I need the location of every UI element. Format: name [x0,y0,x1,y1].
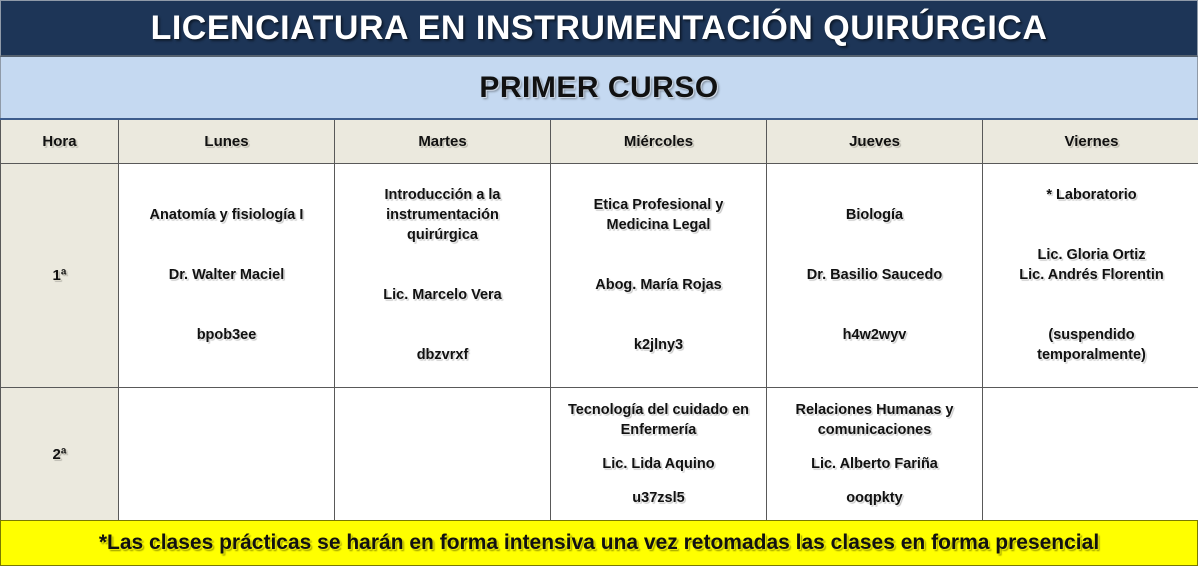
footnote-text: *Las clases prácticas se harán en forma … [99,531,1099,555]
code-block: h4w2wyv [774,325,975,345]
subject-name-line1: Tecnología del cuidado en [558,400,759,420]
class-code: bpob3ee [126,325,327,345]
subject-name-line2: comunicaciones [774,420,975,440]
subject-name-line3: quirúrgica [342,225,543,245]
teacher-block: Lic. Gloria Ortiz Lic. Andrés Florentin [990,245,1193,285]
footnote-bar: *Las clases prácticas se harán en forma … [0,520,1198,566]
schedule-page: LICENCIATURA EN INSTRUMENTACIÓN QUIRÚRGI… [0,0,1198,566]
course-subtitle: PRIMER CURSO [479,71,718,105]
teacher-name: Lic. Alberto Fariña [774,454,975,474]
teacher-name: Dr. Walter Maciel [126,265,327,285]
status-note-line1: (suspendido [990,325,1193,345]
column-header-martes: Martes [335,119,551,163]
subject-block: Anatomía y fisiología I [126,205,327,225]
class-code: u37zsl5 [558,488,759,508]
teacher-name-line2: Lic. Andrés Florentin [990,265,1193,285]
status-note-block: (suspendido temporalmente) [990,325,1193,365]
page-title: LICENCIATURA EN INSTRUMENTACIÓN QUIRÚRGI… [151,9,1048,48]
subject-name: Biología [774,205,975,225]
teacher-name: Lic. Lida Aquino [558,454,759,474]
teacher-block: Dr. Basilio Saucedo [774,265,975,285]
class-cell-viernes-row1[interactable]: * Laboratorio Lic. Gloria Ortiz Lic. And… [983,163,1198,387]
hora-label-row1: 1ª [1,163,119,387]
teacher-block: Abog. María Rojas [558,275,759,295]
class-code: ooqpkty [774,488,975,508]
subject-name-line2: Medicina Legal [558,215,759,235]
table-body: 1ª Anatomía y fisiología I Dr. Walter Ma… [1,163,1198,521]
class-code: k2jlny3 [558,335,759,355]
subject-name: Anatomía y fisiología I [126,205,327,225]
teacher-block: Lic. Marcelo Vera [342,285,543,305]
teacher-name: Lic. Marcelo Vera [342,285,543,305]
table-header: Hora Lunes Martes Miércoles Jueves Viern… [1,119,1198,163]
subject-block: Tecnología del cuidado en Enfermería [558,400,759,440]
column-header-viernes: Viernes [983,119,1198,163]
class-code: h4w2wyv [774,325,975,345]
program-title-band: LICENCIATURA EN INSTRUMENTACIÓN QUIRÚRGI… [0,0,1198,57]
class-cell-viernes-row2[interactable] [983,387,1198,521]
class-cell-lunes-row1[interactable]: Anatomía y fisiología I Dr. Walter Macie… [119,163,335,387]
teacher-block: Dr. Walter Maciel [126,265,327,285]
class-cell-lunes-row2[interactable] [119,387,335,521]
subject-block: Etica Profesional y Medicina Legal [558,195,759,235]
class-cell-jueves-row2[interactable]: Relaciones Humanas y comunicaciones Lic.… [767,387,983,521]
subject-block: Biología [774,205,975,225]
teacher-name: Dr. Basilio Saucedo [774,265,975,285]
subject-block: Relaciones Humanas y comunicaciones [774,400,975,440]
code-block: k2jlny3 [558,335,759,355]
column-header-jueves: Jueves [767,119,983,163]
course-subtitle-band: PRIMER CURSO [0,57,1198,118]
code-block: ooqpkty [774,488,975,508]
hora-label-row2: 2ª [1,387,119,521]
class-cell-miercoles-row1[interactable]: Etica Profesional y Medicina Legal Abog.… [551,163,767,387]
code-block: u37zsl5 [558,488,759,508]
subject-name-line1: Introducción a la [342,185,543,205]
class-cell-jueves-row1[interactable]: Biología Dr. Basilio Saucedo h4w2wyv [767,163,983,387]
teacher-name: Abog. María Rojas [558,275,759,295]
teacher-name-line1: Lic. Gloria Ortiz [990,245,1193,265]
subject-name-line1: Etica Profesional y [558,195,759,215]
subject-name: * Laboratorio [990,185,1193,205]
weekly-schedule-table: Hora Lunes Martes Miércoles Jueves Viern… [0,118,1198,522]
code-block: bpob3ee [126,325,327,345]
subject-name-line1: Relaciones Humanas y [774,400,975,420]
subject-name-line2: Enfermería [558,420,759,440]
class-code: dbzvrxf [342,345,543,365]
subject-name-line2: instrumentación [342,205,543,225]
table-row: 1ª Anatomía y fisiología I Dr. Walter Ma… [1,163,1198,387]
class-cell-martes-row1[interactable]: Introducción a la instrumentación quirúr… [335,163,551,387]
column-header-lunes: Lunes [119,119,335,163]
subject-block: Introducción a la instrumentación quirúr… [342,185,543,245]
table-row: 2ª Tecnología del cuidado en Enfermería [1,387,1198,521]
teacher-block: Lic. Alberto Fariña [774,454,975,474]
code-block: dbzvrxf [342,345,543,365]
teacher-block: Lic. Lida Aquino [558,454,759,474]
class-cell-martes-row2[interactable] [335,387,551,521]
class-cell-miercoles-row2[interactable]: Tecnología del cuidado en Enfermería Lic… [551,387,767,521]
column-header-hora: Hora [1,119,119,163]
status-note-line2: temporalmente) [990,345,1193,365]
table-header-row: Hora Lunes Martes Miércoles Jueves Viern… [1,119,1198,163]
column-header-miercoles: Miércoles [551,119,767,163]
subject-block: * Laboratorio [990,185,1193,205]
